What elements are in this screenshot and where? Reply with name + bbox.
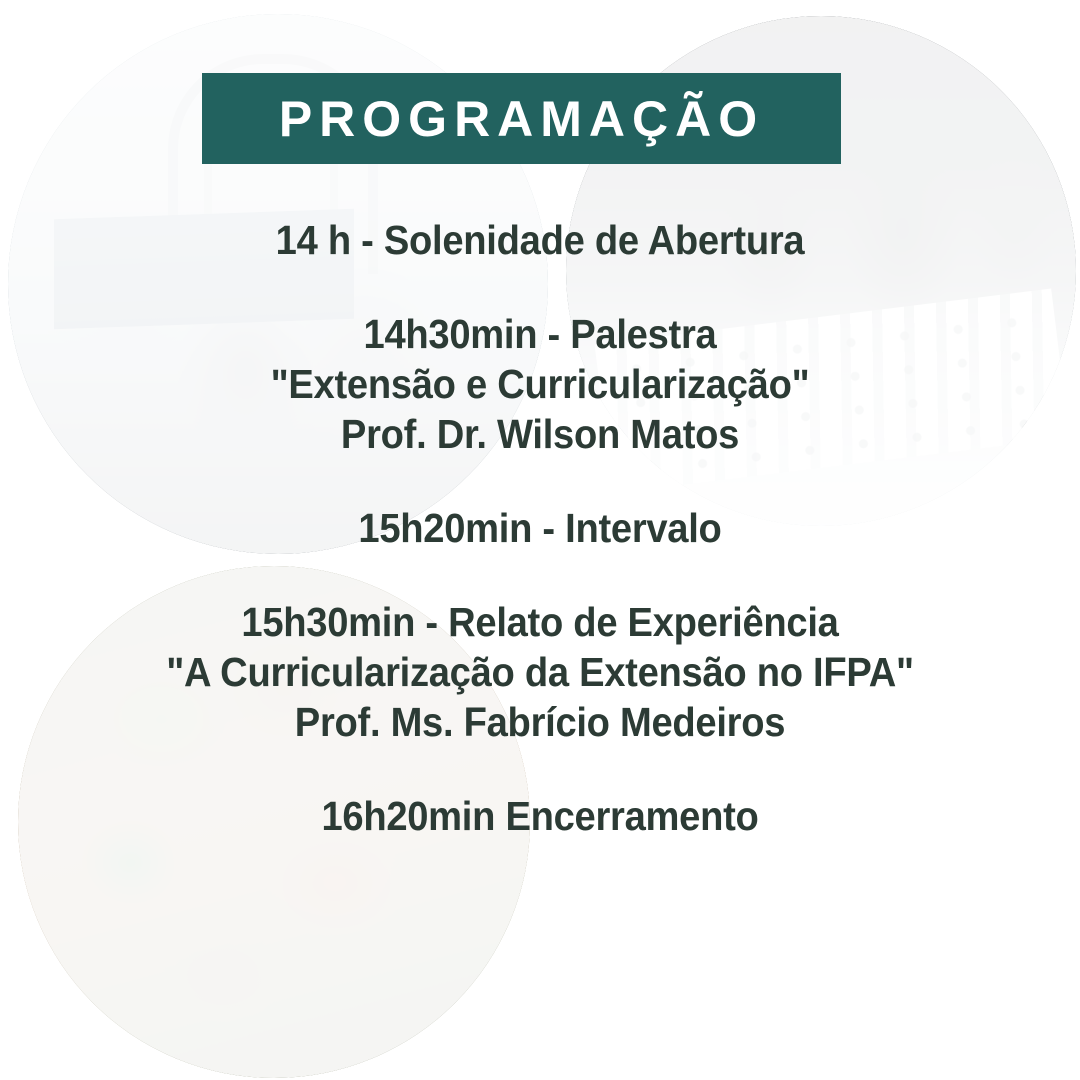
schedule-line: "Extensão e Curricularização" — [38, 359, 1042, 409]
programacao-poster: PROGRAMAÇÃO 14 h - Solenidade de Abertur… — [0, 0, 1080, 1080]
schedule-line: 15h30min - Relato de Experiência — [38, 597, 1042, 647]
schedule-line: 16h20min Encerramento — [38, 791, 1042, 841]
schedule-line: Prof. Dr. Wilson Matos — [38, 409, 1042, 459]
schedule-item-abertura: 14 h - Solenidade de Abertura — [0, 215, 1080, 265]
schedule-list: 14 h - Solenidade de Abertura 14h30min -… — [0, 215, 1080, 841]
schedule-line: 14h30min - Palestra — [38, 309, 1042, 359]
page-title-banner: PROGRAMAÇÃO — [202, 73, 841, 164]
schedule-line: 15h20min - Intervalo — [38, 503, 1042, 553]
schedule-item-intervalo: 15h20min - Intervalo — [0, 503, 1080, 553]
schedule-line: "A Curricularização da Extensão no IFPA" — [38, 647, 1042, 697]
schedule-line: 14 h - Solenidade de Abertura — [38, 215, 1042, 265]
schedule-item-encerramento: 16h20min Encerramento — [0, 791, 1080, 841]
schedule-line: Prof. Ms. Fabrício Medeiros — [38, 697, 1042, 747]
schedule-item-palestra: 14h30min - Palestra "Extensão e Curricul… — [0, 309, 1080, 459]
page-title: PROGRAMAÇÃO — [279, 94, 764, 144]
schedule-item-relato: 15h30min - Relato de Experiência "A Curr… — [0, 597, 1080, 747]
